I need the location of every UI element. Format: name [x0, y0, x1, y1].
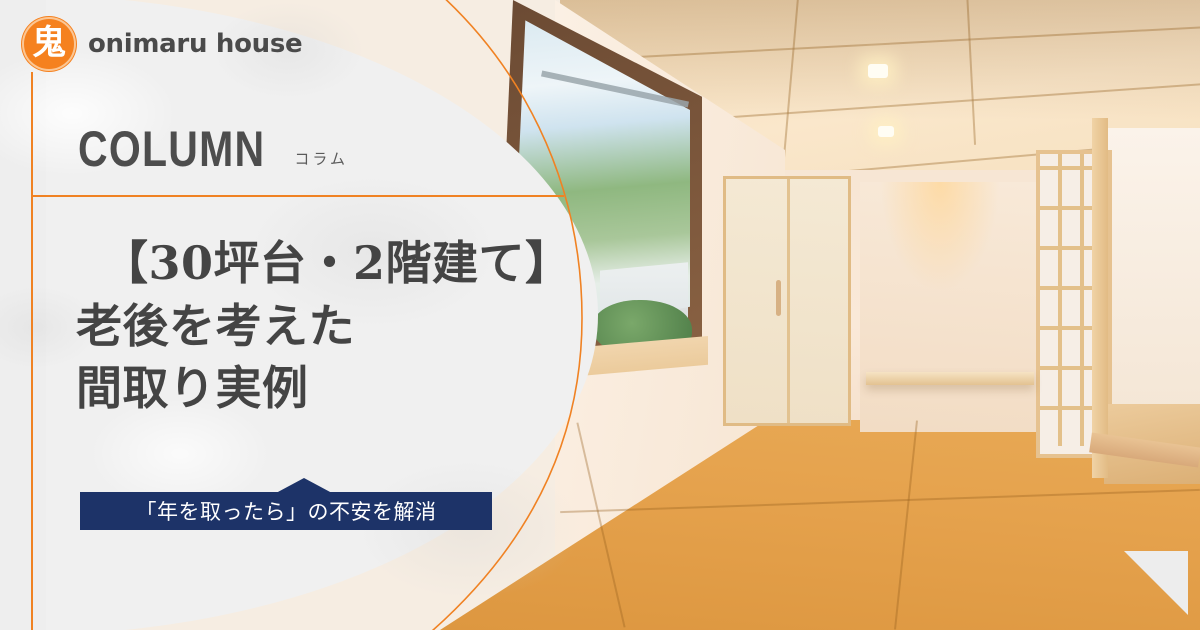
- alcove-shelf: [866, 372, 1034, 385]
- alcove-wall-wash-light: [880, 182, 1000, 292]
- corner-triangle-icon: [1124, 551, 1188, 615]
- onimaru-oni-circle-icon: 鬼: [22, 17, 76, 71]
- closet-doors: [723, 176, 851, 426]
- eyebrow: COLUMN コラム: [78, 124, 348, 174]
- eyebrow-label-en: COLUMN: [78, 124, 265, 174]
- subtitle-banner-text: 「年を取ったら」の不安を解消: [136, 496, 437, 526]
- house-roof-notch-icon: [276, 478, 332, 493]
- og-banner-canvas: 鬼 onimaru house COLUMN コラム 【30坪台・2階建て】 老…: [0, 0, 1200, 630]
- brand-logo[interactable]: 鬼 onimaru house: [22, 17, 302, 71]
- door-post: [1092, 118, 1108, 478]
- vertical-accent-rule: [31, 72, 33, 630]
- downlight: [878, 126, 894, 137]
- downlight: [868, 64, 888, 78]
- page-title-line-2: 老後を考えた: [76, 295, 576, 358]
- brand-name: onimaru house: [88, 29, 302, 59]
- page-title: 【30坪台・2階建て】 老後を考えた 間取り実例: [76, 232, 576, 420]
- oni-kanji-glyph: 鬼: [32, 26, 66, 60]
- page-title-line-3: 間取り実例: [76, 357, 576, 420]
- horizontal-accent-rule: [31, 195, 564, 197]
- left-edge-panel: [0, 0, 46, 630]
- shoji-lattice: [1040, 154, 1100, 446]
- closet-handle: [776, 280, 781, 316]
- subtitle-banner-body: 「年を取ったら」の不安を解消: [80, 492, 492, 530]
- eyebrow-label-ja: コラム: [294, 148, 348, 174]
- page-title-line-1: 【30坪台・2階建て】: [76, 232, 576, 295]
